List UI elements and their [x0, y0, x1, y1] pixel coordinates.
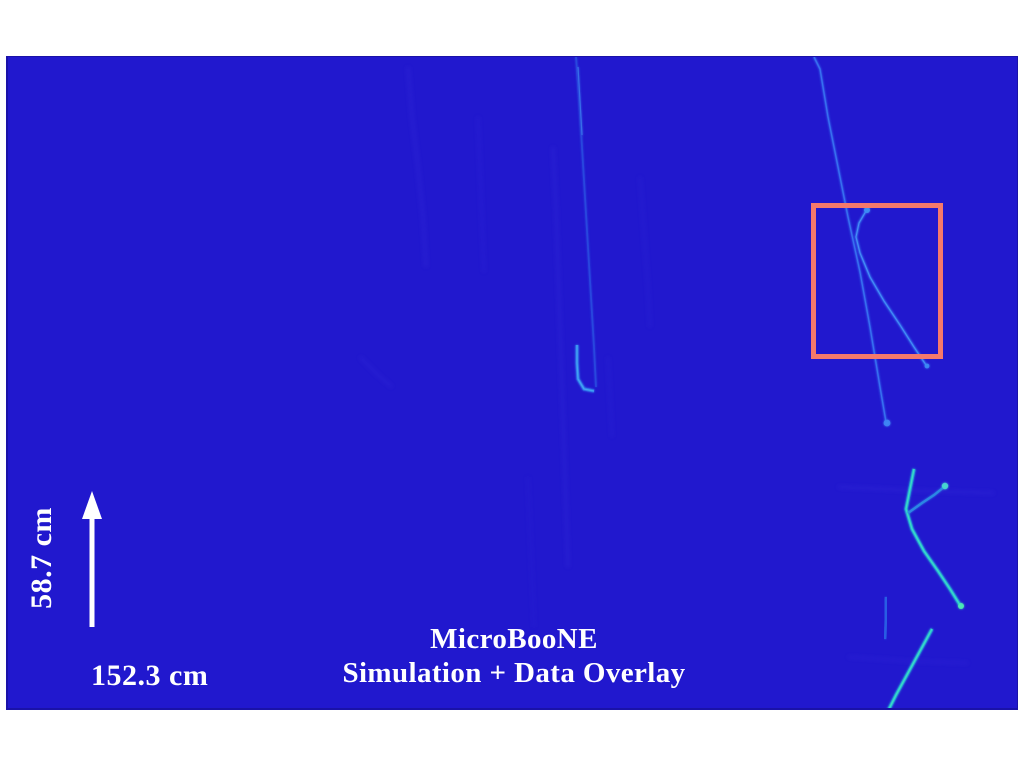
- lower-right-branch-track: [908, 483, 948, 513]
- vertical-faint-track: [576, 57, 596, 387]
- roi-kinked-track: [856, 207, 929, 368]
- lower-right-lower-track: [888, 629, 932, 710]
- long-diagonal-cosmic-track: [814, 57, 890, 426]
- faint-track-group: [360, 67, 994, 663]
- scale-label-x: 152.3 cm: [91, 659, 208, 693]
- scale-arrow-icon: [58, 487, 288, 627]
- center-bright-feature: [577, 345, 594, 391]
- lower-right-short-vertical: [885, 597, 886, 639]
- scale-label-y: 58.7 cm: [25, 507, 59, 609]
- event-display-page: 58.7 cm 152.3 cm MicroBooNE Simulation +…: [0, 0, 1024, 768]
- scale-indicator: 58.7 cm 152.3 cm: [38, 477, 268, 617]
- event-display-canvas: 58.7 cm 152.3 cm MicroBooNE Simulation +…: [6, 56, 1018, 710]
